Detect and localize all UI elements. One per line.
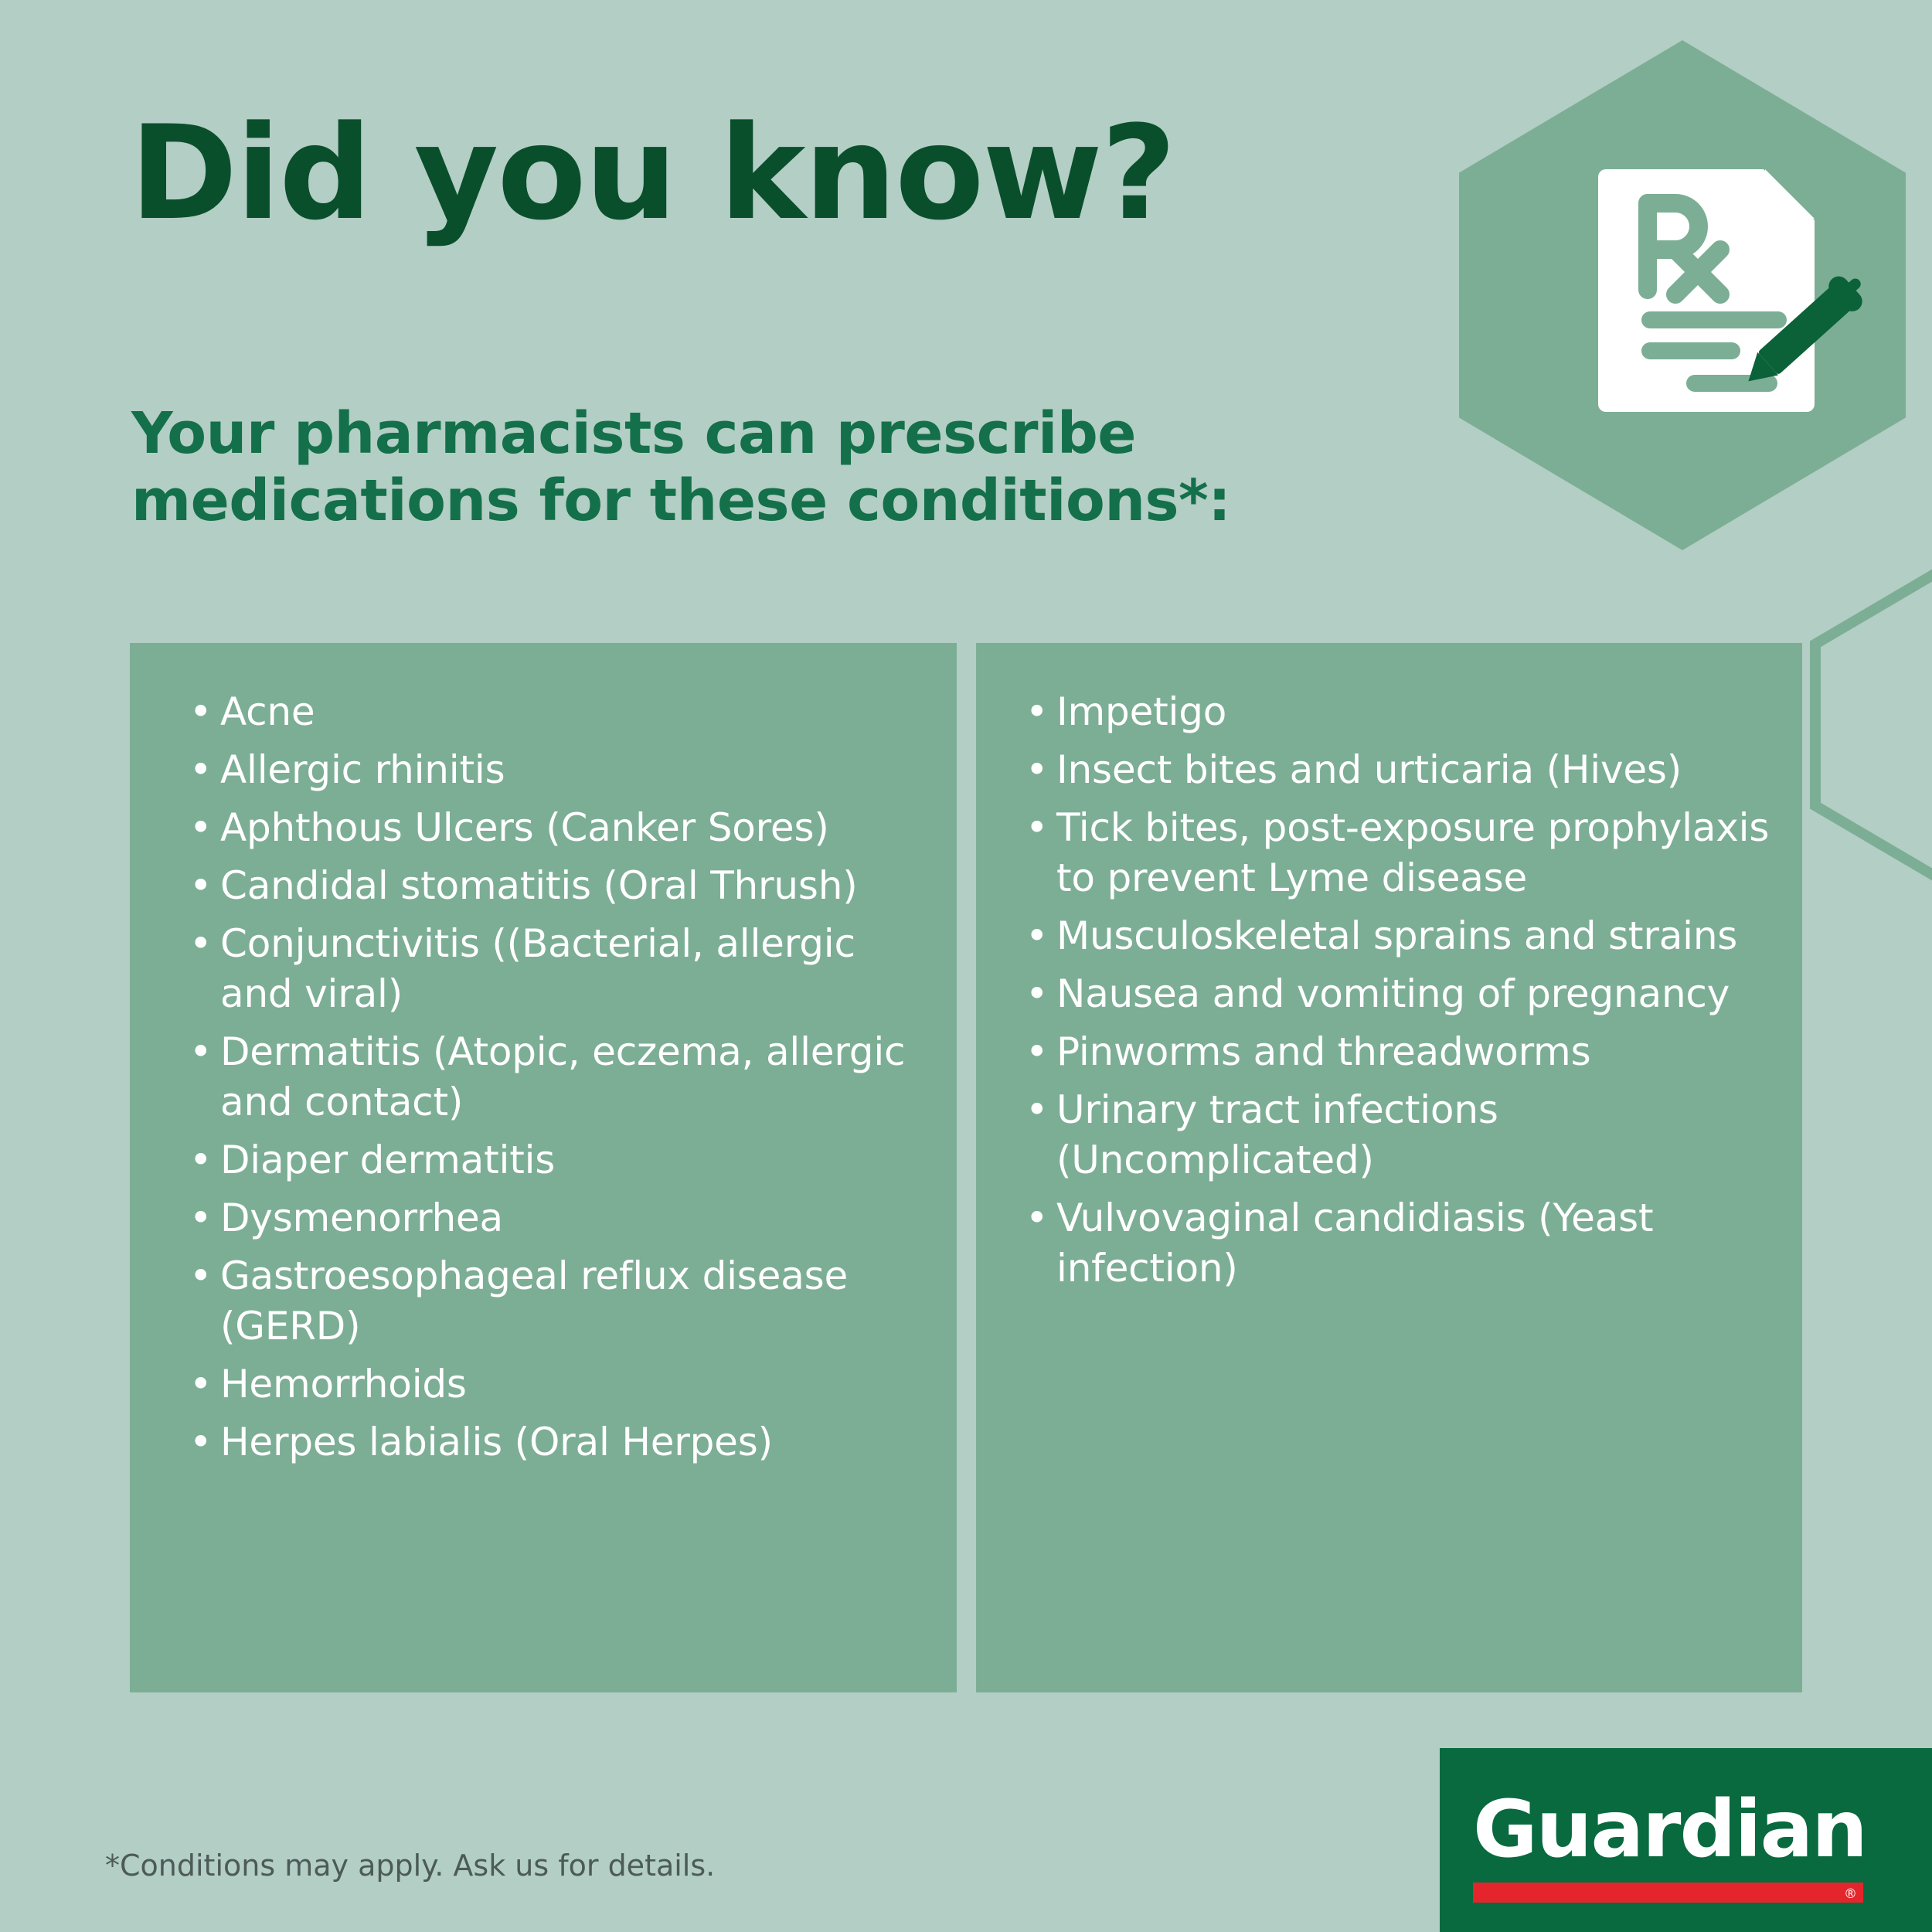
page-title: Did you know? [130,108,1175,238]
condition-label: Nausea and vomiting of pregnancy [1056,971,1730,1016]
condition-label: Musculoskeletal sprains and strains [1056,913,1737,958]
condition-list-item: •Conjunctivitis ((Bacterial, allergic an… [188,919,926,1019]
page-subtitle: Your pharmacists can prescribe medicatio… [131,400,1230,534]
condition-list-item: •Impetigo [1024,687,1771,737]
hexagon-outline-decoration [1810,550,1932,900]
bullet-icon: • [1026,745,1048,795]
condition-label: Insect bites and urticaria (Hives) [1056,747,1682,792]
condition-list-item: •Urinary tract infections (Uncomplicated… [1024,1085,1771,1185]
condition-label: Impetigo [1056,689,1226,734]
condition-list-item: •Hemorrhoids [188,1359,926,1410]
bullet-icon: • [189,745,212,795]
registered-trademark-icon: ® [1844,1884,1857,1904]
footnote-disclaimer: *Conditions may apply. Ask us for detail… [105,1849,715,1883]
bullet-icon: • [1026,687,1048,737]
condition-list-item: •Musculoskeletal sprains and strains [1024,911,1771,961]
bullet-icon: • [1026,911,1048,961]
bullet-icon: • [189,1135,212,1185]
condition-label: Candidal stomatitis (Oral Thrush) [220,863,858,908]
bullet-icon: • [189,919,212,969]
guardian-red-rule: ® [1473,1883,1863,1903]
conditions-panel-right: •Impetigo•Insect bites and urticaria (Hi… [976,643,1802,1692]
condition-label: Dermatitis (Atopic, eczema, allergic and… [220,1029,905,1124]
condition-label: Conjunctivitis ((Bacterial, allergic and… [220,921,855,1016]
condition-label: Gastroesophageal reflux disease (GERD) [220,1253,848,1349]
bullet-icon: • [1026,1085,1048,1135]
bullet-icon: • [189,1359,212,1410]
bullet-icon: • [1026,1027,1048,1077]
conditions-list-left: •Acne•Allergic rhinitis•Aphthous Ulcers … [130,643,957,1468]
condition-list-item: •Allergic rhinitis [188,745,926,795]
condition-list-item: •Tick bites, post-exposure prophylaxis t… [1024,803,1771,903]
condition-list-item: •Gastroesophageal reflux disease (GERD) [188,1251,926,1352]
condition-list-item: •Dermatitis (Atopic, eczema, allergic an… [188,1027,926,1128]
condition-list-item: •Vulvovaginal candidiasis (Yeast infecti… [1024,1193,1771,1294]
condition-label: Diaper dermatitis [220,1138,555,1182]
condition-list-item: •Acne [188,687,926,737]
condition-label: Acne [220,689,315,734]
condition-list-item: •Dysmenorrhea [188,1193,926,1243]
condition-label: Tick bites, post-exposure prophylaxis to… [1056,805,1769,900]
guardian-wordmark: Guardian [1473,1791,1866,1869]
infographic-poster: Did you know? Your pharmacists can presc… [0,0,1932,1932]
conditions-list-right: •Impetigo•Insect bites and urticaria (Hi… [976,643,1802,1294]
condition-list-item: •Pinworms and threadworms [1024,1027,1771,1077]
condition-label: Allergic rhinitis [220,747,505,792]
bullet-icon: • [1026,969,1048,1019]
bullet-icon: • [189,803,212,853]
condition-list-item: •Nausea and vomiting of pregnancy [1024,969,1771,1019]
bullet-icon: • [189,1251,212,1301]
condition-list-item: •Candidal stomatitis (Oral Thrush) [188,861,926,911]
condition-label: Vulvovaginal candidiasis (Yeast infectio… [1056,1196,1653,1291]
condition-label: Hemorrhoids [220,1362,467,1406]
condition-label: Dysmenorrhea [220,1196,503,1240]
bullet-icon: • [189,1027,212,1077]
condition-label: Herpes labialis (Oral Herpes) [220,1420,773,1464]
rx-prescription-pen-icon [1592,158,1870,421]
bullet-icon: • [189,861,212,911]
bullet-icon: • [189,1193,212,1243]
conditions-panel-left: •Acne•Allergic rhinitis•Aphthous Ulcers … [130,643,957,1692]
bullet-icon: • [189,1417,212,1468]
guardian-logo: Guardian ® [1440,1748,1932,1932]
bullet-icon: • [1026,803,1048,853]
condition-label: Pinworms and threadworms [1056,1029,1590,1074]
condition-list-item: •Insect bites and urticaria (Hives) [1024,745,1771,795]
condition-label: Aphthous Ulcers (Canker Sores) [220,805,829,850]
bullet-icon: • [189,687,212,737]
condition-list-item: •Aphthous Ulcers (Canker Sores) [188,803,926,853]
condition-list-item: •Diaper dermatitis [188,1135,926,1185]
condition-label: Urinary tract infections (Uncomplicated) [1056,1087,1498,1182]
bullet-icon: • [1026,1193,1048,1243]
condition-list-item: •Herpes labialis (Oral Herpes) [188,1417,926,1468]
